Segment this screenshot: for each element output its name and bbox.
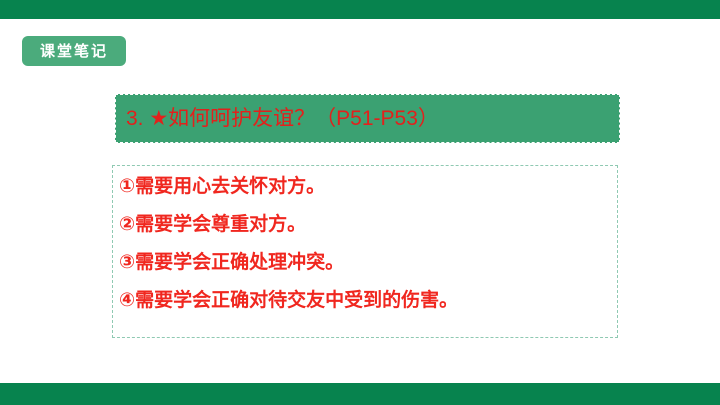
notes-line-4: ④需要学会正确对待交友中受到的伤害。 [119, 291, 611, 310]
section-badge-label: 课堂笔记 [40, 44, 108, 59]
notes-line-3: ③需要学会正确处理冲突。 [119, 253, 611, 272]
question-title-box: 3. ★如何呵护友谊？（P51-P53） [115, 94, 620, 143]
section-badge: 课堂笔记 [22, 36, 126, 66]
notes-content-box: ①需要用心去关怀对方。 ②需要学会尊重对方。 ③需要学会正确处理冲突。 ④需要学… [112, 165, 618, 338]
bottom-banner [0, 383, 720, 405]
slide-canvas: 课堂笔记 3. ★如何呵护友谊？（P51-P53） ①需要用心去关怀对方。 ②需… [0, 0, 720, 405]
top-banner [0, 0, 720, 19]
notes-line-1: ①需要用心去关怀对方。 [119, 177, 611, 196]
question-title-text: 3. ★如何呵护友谊？（P51-P53） [116, 107, 439, 130]
notes-line-2: ②需要学会尊重对方。 [119, 215, 611, 234]
